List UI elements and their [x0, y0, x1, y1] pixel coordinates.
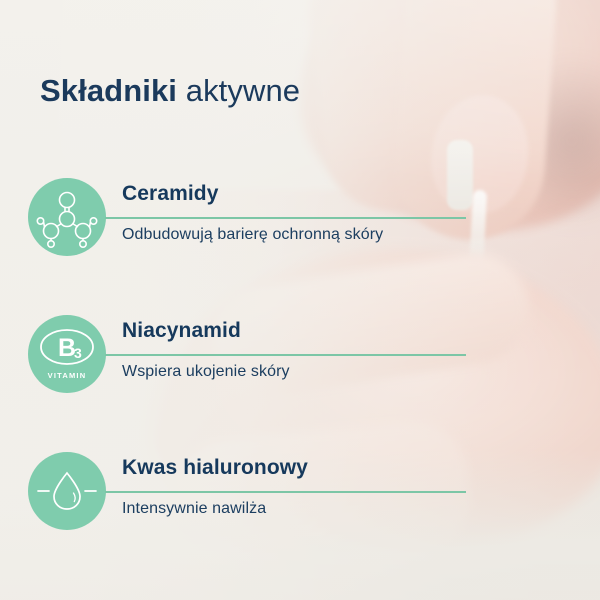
row-divider: [105, 354, 466, 356]
page-title-light: aktywne: [177, 73, 300, 108]
content-layer: Składniki aktywne: [0, 0, 600, 600]
page-title: Składniki aktywne: [40, 72, 300, 110]
vitamin-b3-icon: B 3 VITAMIN: [28, 315, 106, 393]
ingredient-row-ceramidy[interactable]: Ceramidy Odbudowują barierę ochronną skó…: [28, 176, 568, 276]
row-divider: [105, 491, 466, 493]
row-divider: [105, 217, 466, 219]
ingredient-name: Kwas hialuronowy: [122, 456, 308, 480]
promo-canvas: Składniki aktywne: [0, 0, 600, 600]
ingredient-row-kwas-hialuronowy[interactable]: Kwas hialuronowy Intensywnie nawilża: [28, 450, 568, 550]
ingredient-description: Odbudowują barierę ochronną skóry: [122, 226, 383, 244]
molecule-icon: [28, 178, 106, 256]
vitamin-caption: VITAMIN: [48, 371, 87, 380]
ingredient-row-niacynamid[interactable]: B 3 VITAMIN Niacynamid Wspiera ukojenie …: [28, 313, 568, 413]
ingredient-description: Intensywnie nawilża: [122, 500, 266, 518]
water-drop-icon: [28, 452, 106, 530]
ingredient-name: Ceramidy: [122, 182, 219, 206]
ingredient-description: Wspiera ukojenie skóry: [122, 363, 290, 381]
page-title-bold: Składniki: [40, 73, 177, 108]
ingredient-name: Niacynamid: [122, 319, 241, 343]
vitamin-subscript: 3: [74, 345, 82, 361]
